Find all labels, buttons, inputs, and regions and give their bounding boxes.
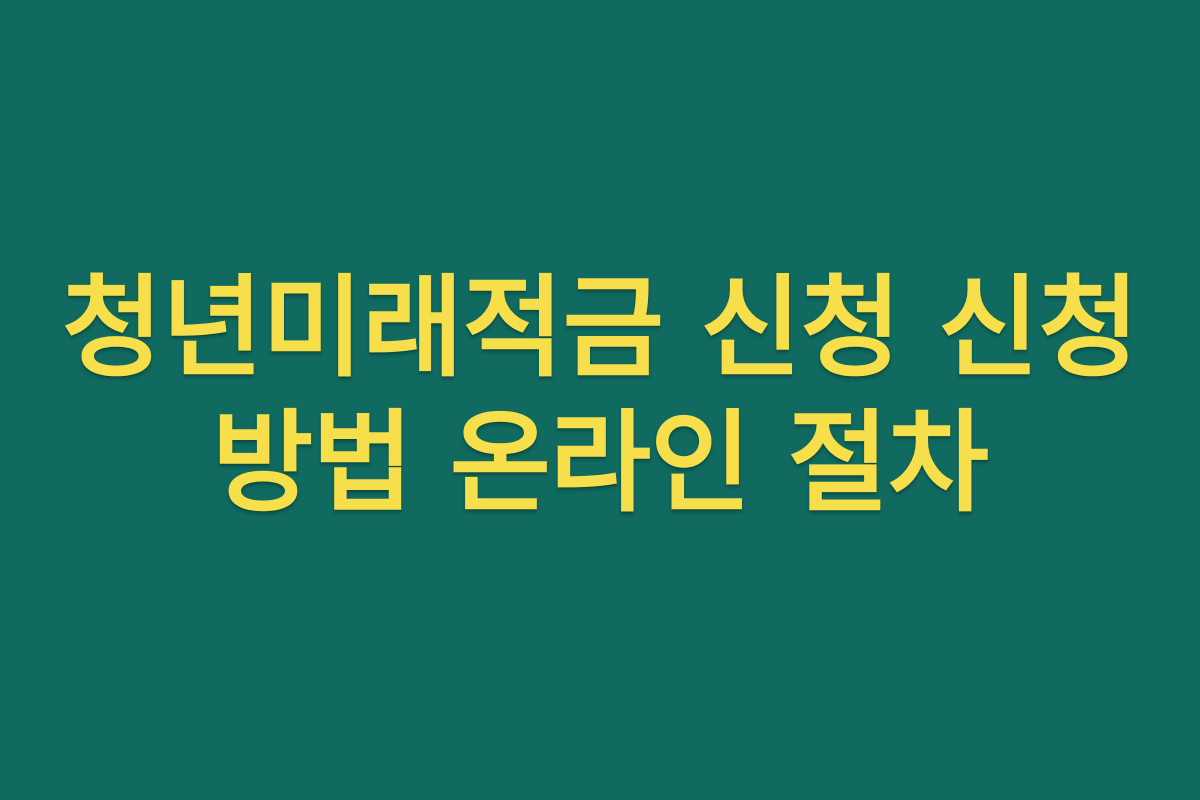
headline-block: 청년미래적금 신청 신청 방법 온라인 절차 [50,261,1150,531]
headline-line-1: 청년미래적금 신청 신청 [62,261,1139,396]
headline-line-2: 방법 온라인 절차 [212,396,988,531]
thumbnail-card: 청년미래적금 신청 신청 방법 온라인 절차 [0,0,1200,800]
